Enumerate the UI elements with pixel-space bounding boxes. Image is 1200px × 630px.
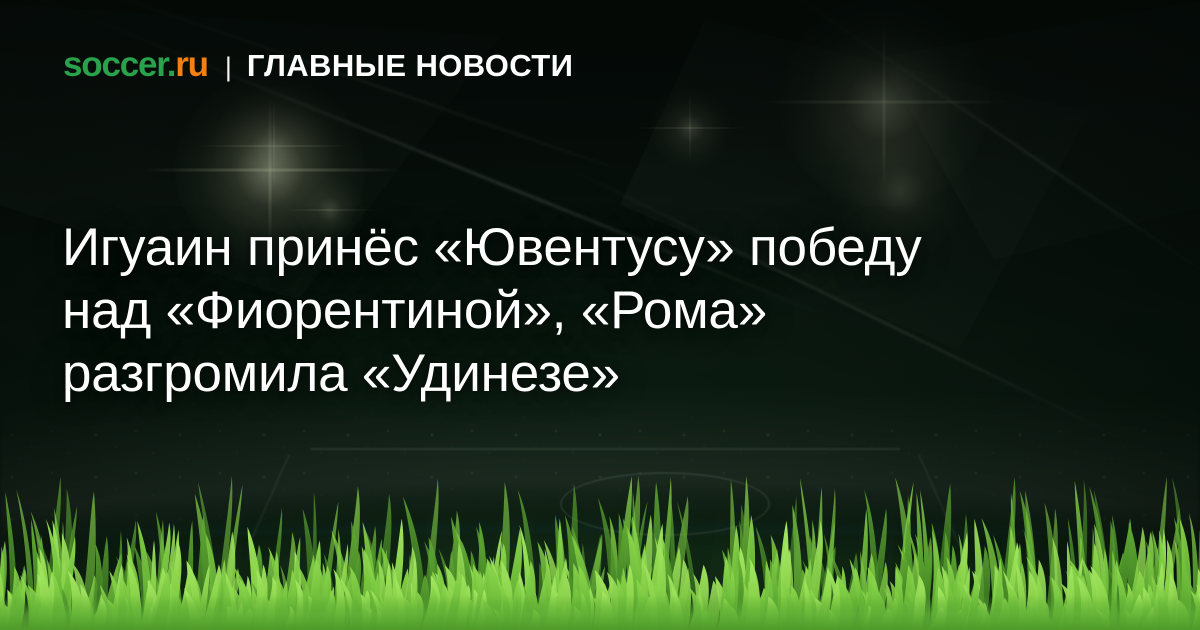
logo-name-text: soccer <box>63 45 167 84</box>
headline-line-2: над «Фиорентиной», «Рома» <box>62 279 1147 342</box>
section-title: ГЛАВНЫЕ НОВОСТИ <box>247 50 573 81</box>
site-logo[interactable]: soccer.ru <box>63 47 208 82</box>
card-header: soccer.ru | ГЛАВНЫЕ НОВОСТИ <box>63 47 573 82</box>
logo-tld-text: ru <box>175 45 208 84</box>
header-divider: | <box>225 54 232 81</box>
page-title: Игуаин принёс «Ювентусу» победу над «Фио… <box>62 216 1147 405</box>
logo-dot: . <box>167 45 176 84</box>
share-card: soccer.ru | ГЛАВНЫЕ НОВОСТИ Игуаин принё… <box>0 0 1200 630</box>
headline-line-1: Игуаин принёс «Ювентусу» победу <box>62 216 1147 279</box>
headline-line-3: разгромила «Удинезе» <box>62 342 1147 405</box>
